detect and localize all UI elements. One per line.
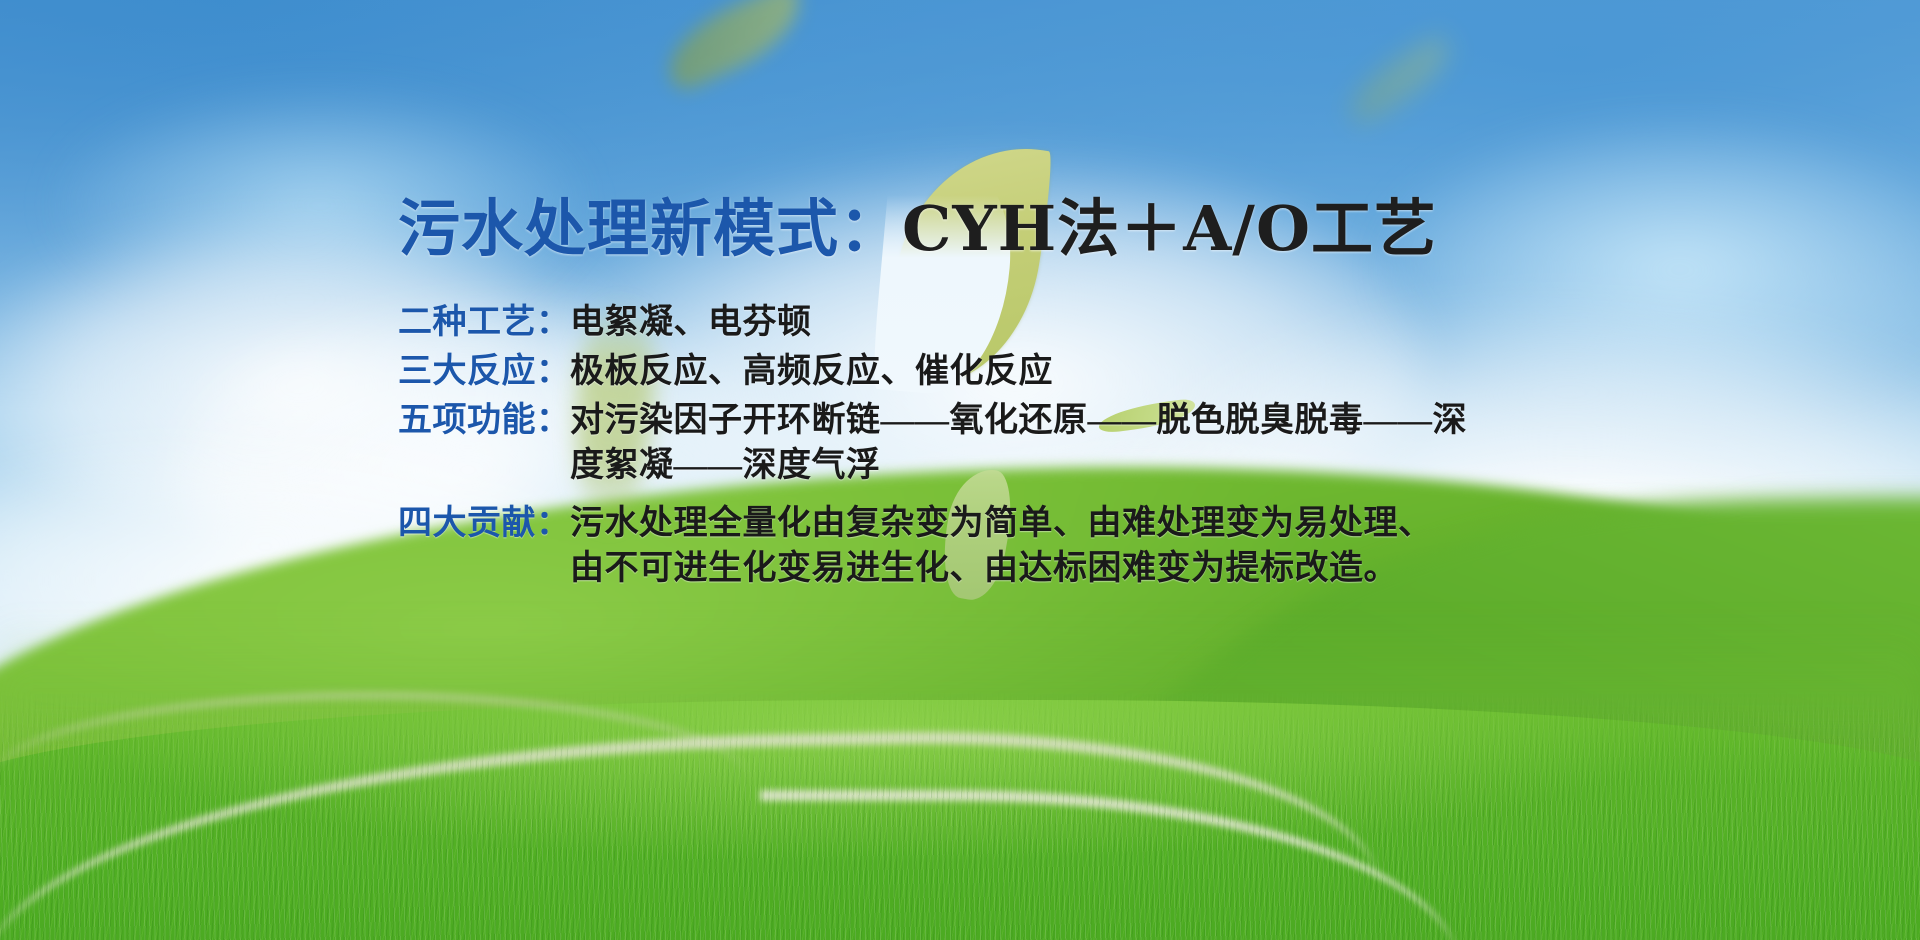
bullet-value-line: 对污染因子开环断链——氧化还原——脱色脱臭脱毒——深 [570, 402, 1467, 439]
slide-canvas: 污水处理新模式：CYH法＋A/O工艺 二种工艺： 电絮凝、电芬顿 三大反应： 极… [0, 0, 1920, 940]
list-item: 二种工艺： 电絮凝、电芬顿 [398, 301, 1698, 346]
bullet-value-line: 极板反应、高频反应、催化反应 [570, 353, 1053, 390]
bullet-value: 极板反应、高频反应、催化反应 [570, 350, 1698, 395]
list-item: 五项功能： 对污染因子开环断链——氧化还原——脱色脱臭脱毒——深 度絮凝——深度… [398, 399, 1698, 489]
bullet-value: 电絮凝、电芬顿 [570, 301, 1698, 346]
grass-texture [0, 690, 1920, 940]
list-item: 四大贡献： 污水处理全量化由复杂变为简单、由难处理变为易处理、 由不可进生化变易… [398, 502, 1698, 592]
bullet-value: 污水处理全量化由复杂变为简单、由难处理变为易处理、 由不可进生化变易进生化、由达… [570, 502, 1698, 592]
slide-title: 污水处理新模式：CYH法＋A/O工艺 [398, 196, 1698, 263]
slide-title-dark-part: CYH法＋A/O工艺 [902, 192, 1437, 265]
bullet-label: 五项功能： [398, 399, 570, 444]
bullet-label: 三大反应： [398, 350, 570, 395]
bullet-value-line: 电絮凝、电芬顿 [570, 304, 812, 341]
bullet-value-continuation: 由不可进生化变易进生化、由达标困难变为提标改造。 [570, 547, 1698, 592]
slide-title-blue-part: 污水处理新模式： [398, 192, 902, 265]
slide-bullet-list: 二种工艺： 电絮凝、电芬顿 三大反应： 极板反应、高频反应、催化反应 五项功能：… [398, 301, 1698, 592]
slide-text-block: 污水处理新模式：CYH法＋A/O工艺 二种工艺： 电絮凝、电芬顿 三大反应： 极… [398, 196, 1698, 596]
bullet-label: 四大贡献： [398, 502, 570, 547]
bullet-value: 对污染因子开环断链——氧化还原——脱色脱臭脱毒——深 度絮凝——深度气浮 [570, 399, 1698, 489]
bullet-value-continuation: 度絮凝——深度气浮 [570, 444, 1698, 489]
bullet-label: 二种工艺： [398, 301, 570, 346]
list-item: 三大反应： 极板反应、高频反应、催化反应 [398, 350, 1698, 395]
bullet-value-line: 污水处理全量化由复杂变为简单、由难处理变为易处理、 [570, 505, 1433, 542]
